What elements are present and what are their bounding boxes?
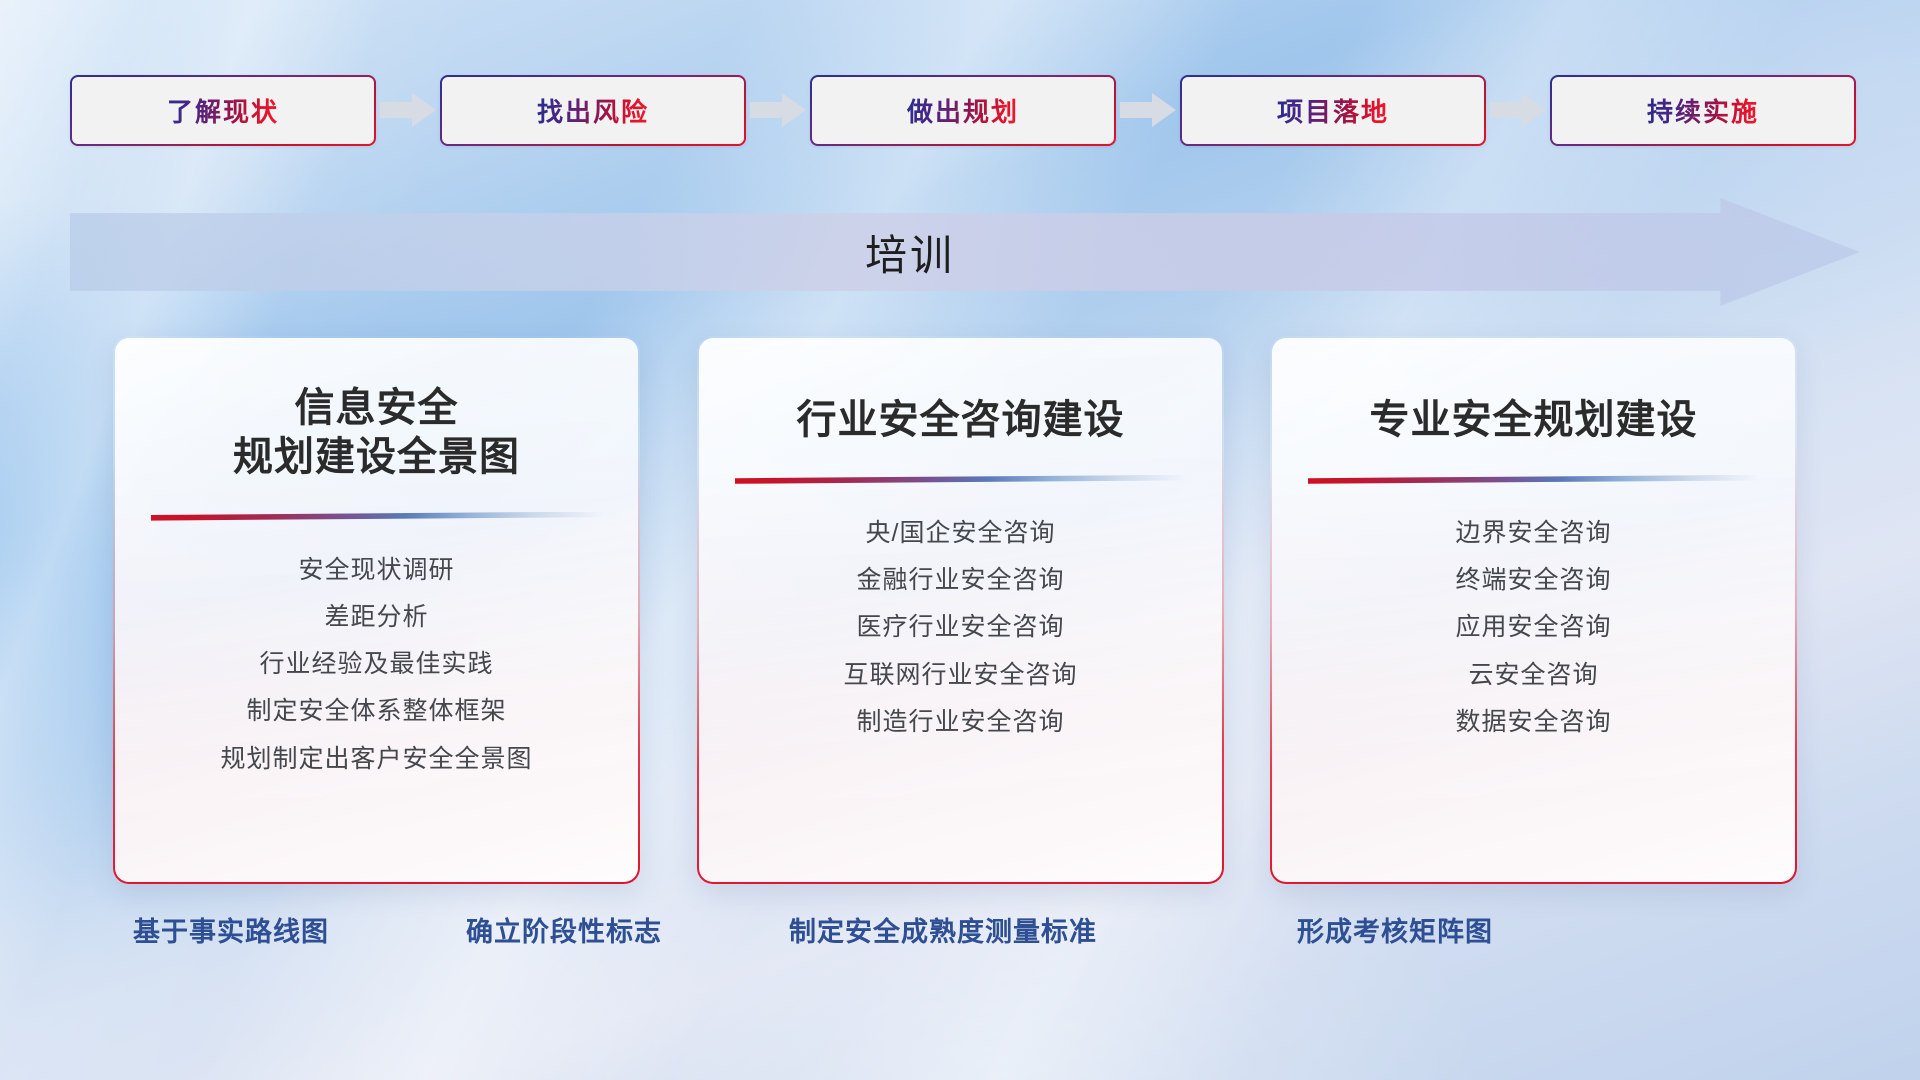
card-divider-wrap: [735, 475, 1187, 484]
footnote-row: 基于事实路线图 确立阶段性标志 制定安全成熟度测量标准 形成考核矩阵图: [0, 910, 1920, 960]
step-box-4[interactable]: 项目落地: [1180, 75, 1486, 146]
list-item: 互联网行业安全咨询: [843, 660, 1077, 691]
card-divider: [1308, 475, 1760, 484]
list-item: 医疗行业安全咨询: [856, 612, 1064, 643]
card-divider: [151, 512, 603, 521]
step-box-5[interactable]: 持续实施: [1550, 75, 1856, 146]
card-divider-wrap: [151, 512, 603, 521]
list-item: 安全现状调研: [298, 555, 454, 586]
footnote-3: 制定安全成熟度测量标准: [789, 910, 1097, 949]
card-divider-wrap: [1308, 475, 1760, 484]
list-item: 边界安全咨询: [1455, 518, 1611, 549]
card-inner: 信息安全 规划建设全景图 安全现状调研 差距分析 行业经验及最佳实践 制定安全体…: [115, 338, 638, 882]
list-item: 央/国企安全咨询: [866, 518, 1056, 549]
card-title: 行业安全咨询建设: [797, 396, 1125, 445]
footnote-2: 确立阶段性标志: [466, 910, 662, 949]
list-item: 云安全咨询: [1468, 660, 1598, 691]
step-label-5: 持续实施: [1647, 92, 1759, 129]
arrow-right-icon-2: [748, 93, 808, 127]
card-inner: 专业安全规划建设 边界安全咨询 终端安全咨询 应用安全咨询 云安全咨询 数据安全…: [1272, 338, 1795, 882]
step-label-3: 做出规划: [907, 92, 1019, 129]
card-row: 信息安全 规划建设全景图 安全现状调研 差距分析 行业经验及最佳实践 制定安全体…: [0, 336, 1920, 884]
list-item: 差距分析: [324, 602, 428, 633]
list-item: 规划制定出客户安全全景图: [220, 744, 532, 775]
step-box-2[interactable]: 找出风险: [440, 75, 746, 146]
step-label-1: 了解现状: [167, 92, 279, 129]
footnote-4: 形成考核矩阵图: [1297, 910, 1493, 949]
list-item: 应用安全咨询: [1455, 612, 1611, 643]
card-information-security-panorama[interactable]: 信息安全 规划建设全景图 安全现状调研 差距分析 行业经验及最佳实践 制定安全体…: [113, 336, 640, 884]
step-box-1[interactable]: 了解现状: [70, 75, 376, 146]
card-divider: [735, 475, 1187, 484]
card-professional-security-planning[interactable]: 专业安全规划建设 边界安全咨询 终端安全咨询 应用安全咨询 云安全咨询 数据安全…: [1270, 336, 1797, 884]
step-label-4: 项目落地: [1277, 92, 1389, 129]
card-industry-security-consulting[interactable]: 行业安全咨询建设 央/国企安全咨询 金融行业安全咨询 医疗行业安全咨询 互联网行…: [697, 336, 1224, 884]
list-item: 金融行业安全咨询: [856, 565, 1064, 596]
list-item: 终端安全咨询: [1455, 565, 1611, 596]
process-step-row: 了解现状 找出风险 做出规划 项目落地: [70, 70, 1856, 150]
list-item: 行业经验及最佳实践: [259, 649, 493, 680]
list-item: 制定安全体系整体框架: [246, 696, 506, 727]
banner-title: 培训: [70, 198, 1860, 306]
footnote-1: 基于事实路线图: [133, 910, 329, 949]
card-title: 专业安全规划建设: [1370, 396, 1698, 445]
card-item-list: 央/国企安全咨询 金融行业安全咨询 医疗行业安全咨询 互联网行业安全咨询 制造行…: [725, 518, 1196, 738]
list-item: 制造行业安全咨询: [856, 707, 1064, 738]
card-item-list: 边界安全咨询 终端安全咨询 应用安全咨询 云安全咨询 数据安全咨询: [1298, 518, 1769, 738]
step-label-2: 找出风险: [537, 92, 649, 129]
training-banner: 培训: [70, 198, 1860, 306]
arrow-right-icon-1: [378, 93, 438, 127]
arrow-right-icon-3: [1118, 93, 1178, 127]
arrow-right-icon-4: [1488, 93, 1548, 127]
list-item: 数据安全咨询: [1455, 707, 1611, 738]
card-title: 信息安全 规划建设全景图: [233, 384, 520, 482]
card-inner: 行业安全咨询建设 央/国企安全咨询 金融行业安全咨询 医疗行业安全咨询 互联网行…: [699, 338, 1222, 882]
card-item-list: 安全现状调研 差距分析 行业经验及最佳实践 制定安全体系整体框架 规划制定出客户…: [141, 555, 612, 775]
slide-canvas: 了解现状 找出风险 做出规划 项目落地: [0, 0, 1920, 1080]
step-box-3[interactable]: 做出规划: [810, 75, 1116, 146]
